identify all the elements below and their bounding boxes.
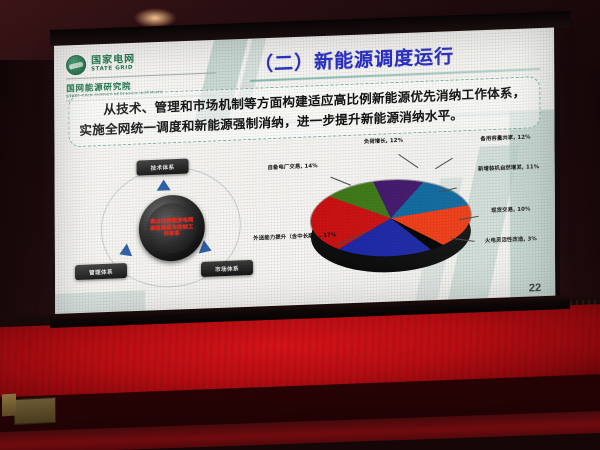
pie-label-new-capacity: 新增装机自然增发, 11% — [469, 164, 549, 174]
diagram-core-label: 高占比新能源电网柔性调度与控制工作体系 — [149, 217, 195, 239]
pie-label-spot-trading: 现货交易, 10% — [475, 206, 547, 216]
stage-prop-box — [14, 397, 56, 425]
diagram-node-technology: 技术体系 — [137, 158, 189, 175]
diagram-node-management: 管理体系 — [75, 263, 127, 280]
presentation-slide: 国家电网 STATE GRID 国网能源研究院 STATE GRID ENERG… — [54, 23, 555, 321]
pie-label-reserve-sharing: 备用容量共享, 12% — [466, 134, 544, 144]
pie-chart-graphic — [311, 177, 471, 284]
conference-photo: 国家电网 STATE GRID 国网能源研究院 STATE GRID ENERG… — [0, 0, 600, 450]
page-number: 22 — [529, 282, 541, 295]
leader-line — [435, 158, 453, 170]
stage-prop-box-small — [2, 394, 16, 417]
pie-label-coal-flexibility: 火电灵活性改造, 3% — [471, 236, 551, 246]
pie-label-captive-plant: 自备电厂交易, 14% — [255, 163, 331, 173]
globe-icon — [66, 55, 86, 76]
leader-line — [398, 154, 418, 168]
framework-diagram: 高占比新能源电网柔性调度与控制工作体系 技术体系 管理体系 市场体系 — [73, 153, 270, 299]
arrow-down-icon — [157, 179, 171, 191]
pie-chart: 负荷增长, 12% 备用容量共享, 12% 新增装机自然增发, 11% 现货交易… — [252, 131, 555, 311]
diagram-core-inner: 高占比新能源电网柔性调度与控制工作体系 — [147, 202, 197, 254]
company-name-en: STATE GRID — [91, 65, 135, 73]
led-screen: 国家电网 STATE GRID 国网能源研究院 STATE GRID ENERG… — [54, 23, 555, 321]
diagram-node-market: 市场体系 — [201, 260, 253, 277]
pie-label-load-growth: 负荷增长, 12% — [348, 137, 418, 147]
